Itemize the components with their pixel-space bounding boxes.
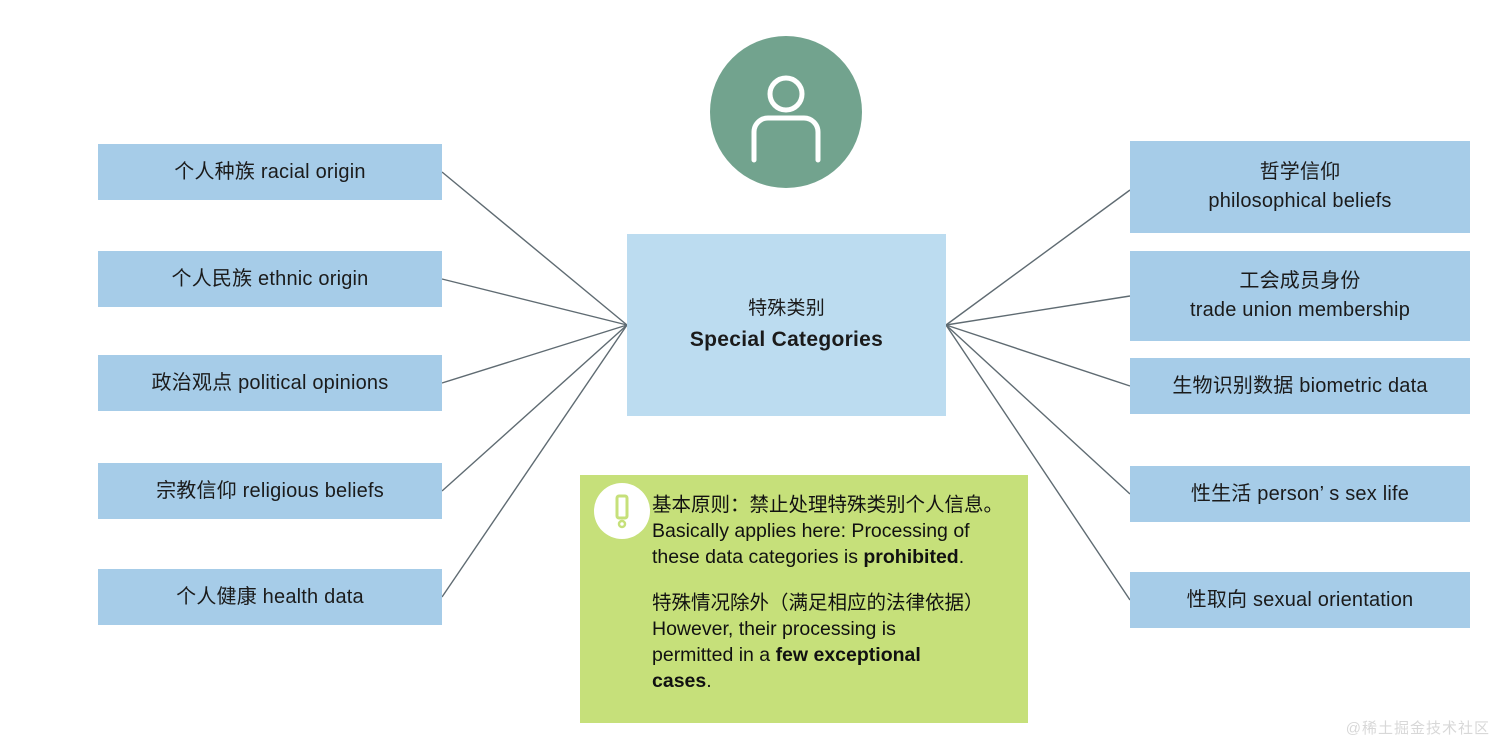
right-node-trade-union-membership[interactable]: 工会成员身份 trade union membership	[1130, 251, 1470, 341]
right-node-label-en: trade union membership	[1190, 296, 1410, 325]
principle-note: 基本原则：禁止处理特殊类别个人信息。 Basically applies her…	[580, 475, 1028, 723]
note-paragraph-2: 特殊情况除外（满足相应的法律依据） However, their process…	[652, 591, 1020, 695]
right-node-label-cn: 哲学信仰	[1260, 158, 1341, 187]
left-node-political-opinions[interactable]: 政治观点 political opinions	[98, 355, 442, 411]
left-node-label: 个人健康 health data	[176, 583, 364, 612]
left-node-label: 个人民族 ethnic origin	[172, 265, 369, 294]
note-paragraph-1: 基本原则：禁止处理特殊类别个人信息。 Basically applies her…	[652, 493, 1020, 571]
person-avatar	[710, 36, 862, 188]
left-node-label: 政治观点 political opinions	[152, 369, 389, 398]
left-node-racial-origin[interactable]: 个人种族 racial origin	[98, 144, 442, 200]
note-line: permitted in a few exceptional	[652, 643, 1020, 669]
note-line: Basically applies here: Processing of	[652, 519, 1020, 545]
note-line: 特殊情况除外（满足相应的法律依据）	[652, 591, 1020, 617]
right-node-biometric-data[interactable]: 生物识别数据 biometric data	[1130, 358, 1470, 414]
center-node-special-categories[interactable]: 特殊类别 Special Categories	[627, 234, 946, 416]
watermark: @稀土掘金技术社区	[1346, 717, 1490, 738]
center-node-label-cn: 特殊类别	[748, 295, 825, 323]
note-line: cases.	[652, 669, 1020, 695]
left-node-label: 宗教信仰 religious beliefs	[156, 477, 384, 506]
connector-right-3	[946, 325, 1130, 386]
right-node-label-en: 性生活 person’ s sex life	[1191, 480, 1409, 509]
right-node-sex-life[interactable]: 性生活 person’ s sex life	[1130, 466, 1470, 522]
right-node-label-cn: 工会成员身份	[1239, 267, 1360, 296]
left-node-religious-beliefs[interactable]: 宗教信仰 religious beliefs	[98, 463, 442, 519]
left-node-health-data[interactable]: 个人健康 health data	[98, 569, 442, 625]
connector-left-2	[442, 279, 627, 325]
note-line: However, their processing is	[652, 617, 1020, 643]
left-node-ethnic-origin[interactable]: 个人民族 ethnic origin	[98, 251, 442, 307]
connector-right-2	[946, 296, 1130, 325]
connector-left-4	[442, 325, 627, 491]
exclamation-icon	[594, 483, 650, 539]
left-node-label: 个人种族 racial origin	[174, 158, 365, 187]
center-node-label-en: Special Categories	[690, 325, 883, 355]
connector-left-1	[442, 172, 627, 325]
note-line: 基本原则：禁止处理特殊类别个人信息。	[652, 493, 1020, 519]
principle-note-text: 基本原则：禁止处理特殊类别个人信息。 Basically applies her…	[652, 493, 1020, 694]
right-node-philosophical-beliefs[interactable]: 哲学信仰 philosophical beliefs	[1130, 141, 1470, 233]
note-line: these data categories is prohibited.	[652, 545, 1020, 571]
right-node-sexual-orientation[interactable]: 性取向 sexual orientation	[1130, 572, 1470, 628]
connector-right-1	[946, 190, 1130, 325]
connector-left-3	[442, 325, 627, 383]
right-node-label-en: 性取向 sexual orientation	[1187, 586, 1414, 615]
connector-right-4	[946, 325, 1130, 494]
right-node-label-en: 生物识别数据 biometric data	[1172, 372, 1427, 401]
right-node-label-en: philosophical beliefs	[1208, 187, 1391, 216]
diagram-canvas: 特殊类别 Special Categories 个人种族 racial orig…	[0, 0, 1512, 752]
